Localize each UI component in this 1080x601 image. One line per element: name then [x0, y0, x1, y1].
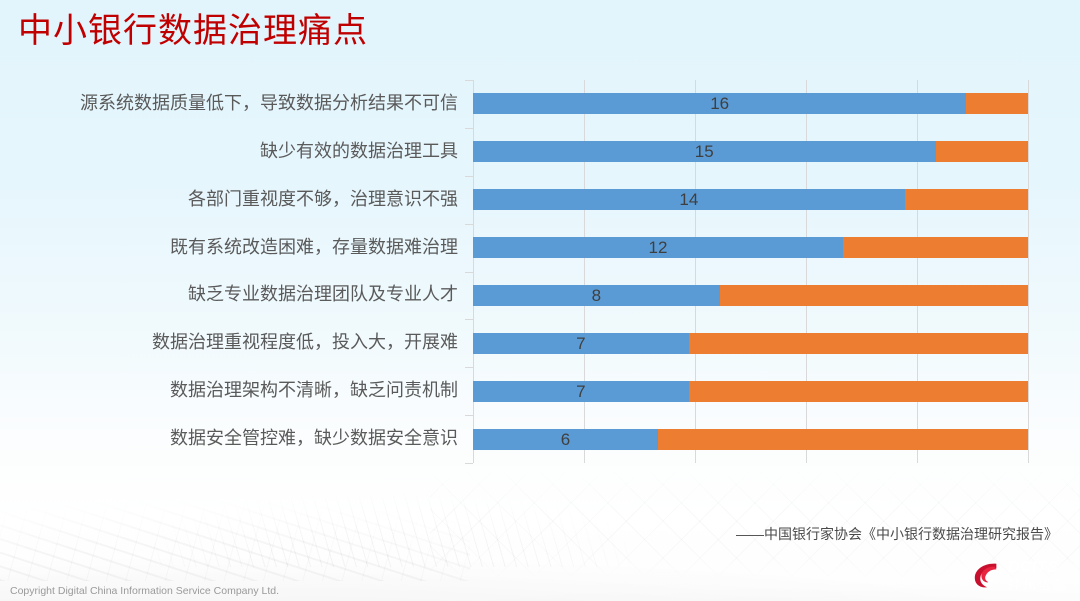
axis-tick: [465, 367, 473, 368]
bar-value-label: 12: [473, 237, 843, 258]
bar-segment-secondary[interactable]: [689, 333, 1028, 354]
bar-value-label: 15: [473, 141, 936, 162]
table-row: 15: [473, 141, 1028, 162]
axis-tick: [465, 176, 473, 177]
dcits-logo: DCITS 神州信息: [972, 556, 1068, 594]
table-row: 6: [473, 429, 1028, 450]
bar-value-label: 14: [473, 189, 905, 210]
plot-area: 161514128776: [473, 80, 1028, 463]
gridline: [473, 80, 474, 463]
axis-tick: [465, 272, 473, 273]
axis-tick: [465, 415, 473, 416]
page-title: 中小银行数据治理痛点: [18, 6, 368, 56]
bar-segment-secondary[interactable]: [905, 189, 1028, 210]
copyright-notice: Copyright Digital China Information Serv…: [10, 585, 279, 597]
table-row: 14: [473, 189, 1028, 210]
bar-value-label: 8: [473, 285, 720, 306]
category-label: 各部门重视度不够，治理意识不强: [0, 189, 458, 209]
category-label: 缺乏专业数据治理团队及专业人才: [0, 284, 458, 304]
bar-value-label: 6: [473, 429, 658, 450]
bar-segment-secondary[interactable]: [720, 285, 1028, 306]
gridline: [584, 80, 585, 463]
gridline: [695, 80, 696, 463]
bar-value-label: 7: [473, 381, 689, 402]
bar-value-label: 7: [473, 333, 689, 354]
bar-segment-secondary[interactable]: [966, 93, 1028, 114]
category-label: 数据治理重视程度低，投入大，开展难: [0, 332, 458, 352]
gridline: [806, 80, 807, 463]
table-row: 7: [473, 381, 1028, 402]
logo-wordmark: DCITS 神州信息: [1008, 560, 1068, 591]
axis-tick: [465, 463, 473, 464]
background-ridge: [150, 462, 630, 567]
category-label: 数据治理架构不清晰，缺乏问责机制: [0, 380, 458, 400]
axis-tick: [465, 80, 473, 81]
gridline: [1028, 80, 1029, 463]
bar-segment-secondary[interactable]: [936, 141, 1029, 162]
table-row: 12: [473, 237, 1028, 258]
background-blocks: [0, 461, 470, 581]
gridline: [917, 80, 918, 463]
dcits-swoosh-icon: [972, 560, 1002, 590]
bar-segment-secondary[interactable]: [843, 237, 1028, 258]
table-row: 7: [473, 333, 1028, 354]
category-label: 缺少有效的数据治理工具: [0, 141, 458, 161]
axis-tick: [465, 128, 473, 129]
source-attribution: ——中国银行家协会《中小银行数据治理研究报告》: [736, 524, 1058, 544]
table-row: 16: [473, 93, 1028, 114]
bar-value-label: 16: [473, 93, 966, 114]
category-axis-labels: 源系统数据质量低下，导致数据分析结果不可信缺少有效的数据治理工具各部门重视度不够…: [0, 80, 466, 470]
category-label: 源系统数据质量低下，导致数据分析结果不可信: [0, 93, 458, 113]
bar-chart: 源系统数据质量低下，导致数据分析结果不可信缺少有效的数据治理工具各部门重视度不够…: [0, 80, 1080, 470]
category-label: 既有系统改造困难，存量数据难治理: [0, 237, 458, 257]
table-row: 8: [473, 285, 1028, 306]
logo-brand-en: DCITS: [1008, 560, 1068, 576]
axis-tick: [465, 319, 473, 320]
bar-segment-secondary[interactable]: [658, 429, 1028, 450]
slide-root: 中小银行数据治理痛点 源系统数据质量低下，导致数据分析结果不可信缺少有效的数据治…: [0, 0, 1080, 601]
logo-brand-cn: 神州信息: [1008, 578, 1068, 591]
category-label: 数据安全管控难，缺少数据安全意识: [0, 428, 458, 448]
axis-tick: [465, 224, 473, 225]
bar-segment-secondary[interactable]: [689, 381, 1028, 402]
